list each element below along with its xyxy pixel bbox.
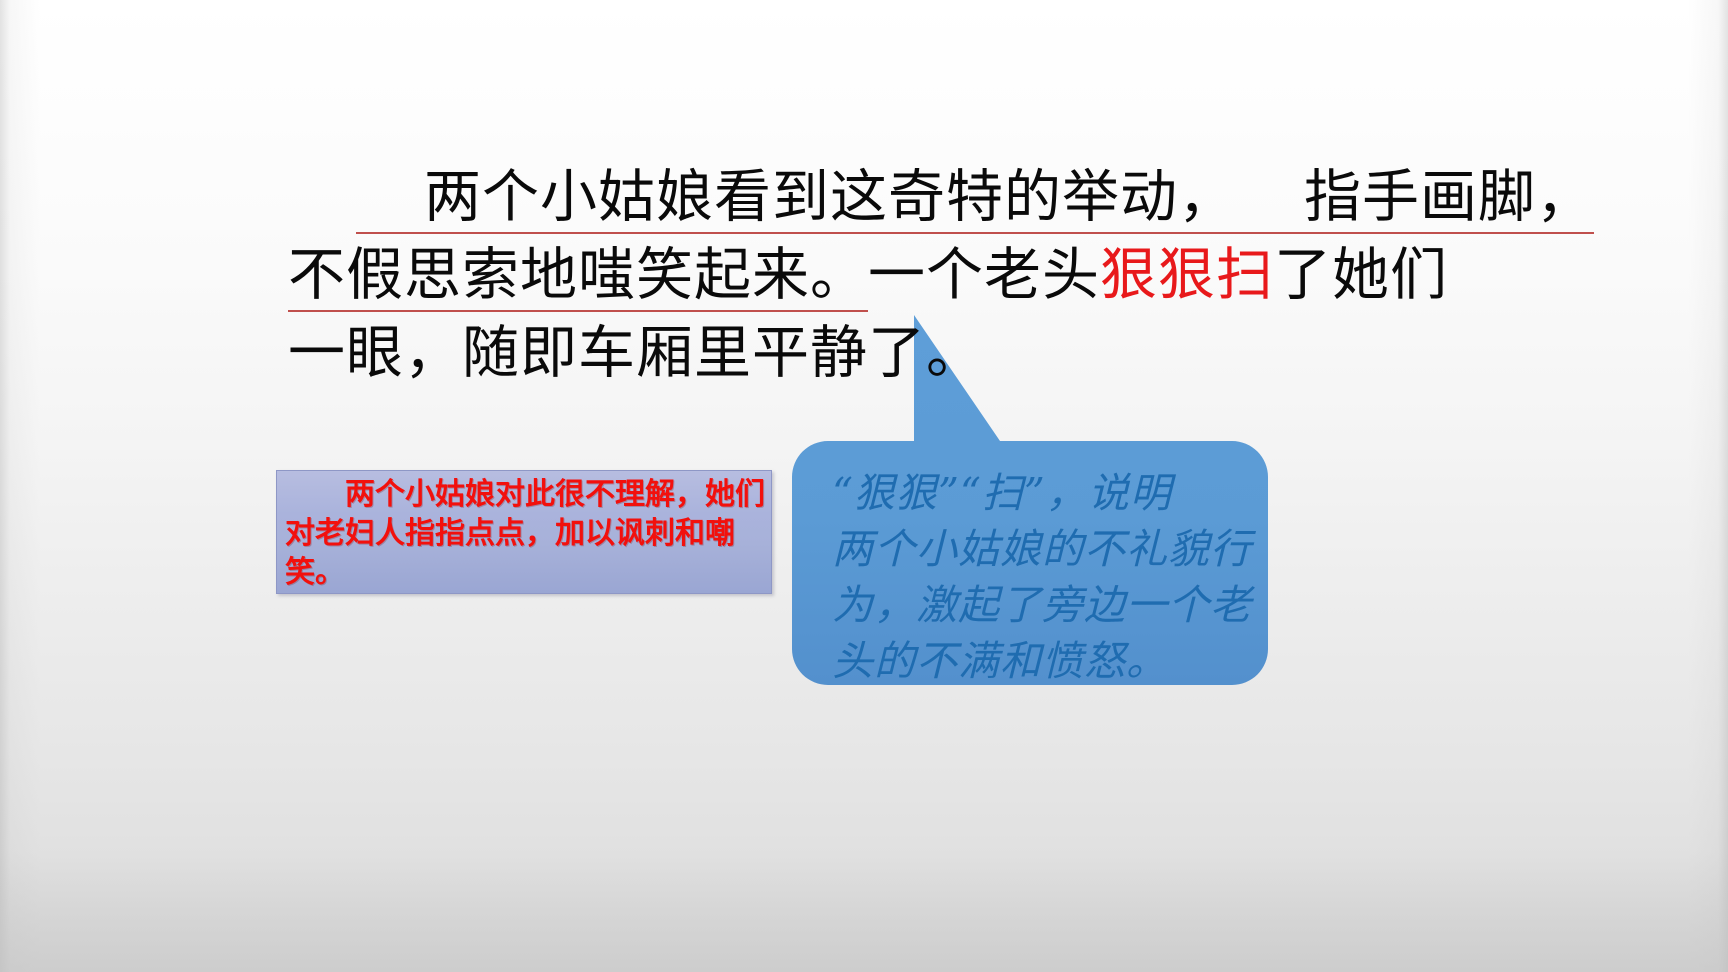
- callout-line-3: 为，激起了旁边一个老: [832, 577, 1232, 633]
- passage-line-1-text-b: 指手画脚，: [1304, 164, 1594, 230]
- passage-line-1-underlined-b: 指手画脚，: [1236, 158, 1594, 236]
- passage-line-2: 不假思索地嗤笑起来。一个老头狠狠扫了她们: [288, 236, 1468, 314]
- passage-line-1-text-a: 两个小姑娘看到这奇特的举动，: [424, 164, 1236, 230]
- callout-line-1: “狠狠”“扫”，说明: [832, 465, 1232, 521]
- passage-line-1: 两个小姑娘看到这奇特的举动，指手画脚，: [288, 158, 1468, 236]
- passage-line-2-text-b: 一个老头: [868, 242, 1100, 308]
- passage-line-2-text-c: 了她们: [1274, 242, 1448, 308]
- passage-line-3: 一眼，随即车厢里平静了。: [288, 314, 1468, 392]
- passage-highlight-red: 狠狠扫: [1100, 242, 1274, 308]
- callout-line-4: 头的不满和愤怒。: [832, 633, 1232, 689]
- slide-canvas: 两个小姑娘看到这奇特的举动，指手画脚， 不假思索地嗤笑起来。一个老头狠狠扫了她们…: [0, 0, 1728, 972]
- passage-line-2-underlined-a: 不假思索地嗤笑起来。: [288, 236, 868, 314]
- callout-text: “狠狠”“扫”，说明 两个小姑娘的不礼貌行 为，激起了旁边一个老 头的不满和愤怒…: [832, 465, 1232, 689]
- callout-line-2: 两个小姑娘的不礼貌行: [832, 521, 1232, 577]
- passage-text: 两个小姑娘看到这奇特的举动，指手画脚， 不假思索地嗤笑起来。一个老头狠狠扫了她们…: [288, 158, 1468, 392]
- passage-line-2-text-a: 不假思索地嗤笑起来。: [288, 242, 868, 308]
- answer-box-line-1: 两个小姑娘对此很不理解，: [345, 477, 705, 512]
- answer-box: 两个小姑娘对此很不理解，她们对老妇人指指点点，加以讽刺和嘲笑。: [276, 470, 772, 594]
- answer-box-text: 两个小姑娘对此很不理解，她们对老妇人指指点点，加以讽刺和嘲笑。: [285, 475, 765, 592]
- passage-line-1-underlined-a: 两个小姑娘看到这奇特的举动，: [356, 158, 1236, 236]
